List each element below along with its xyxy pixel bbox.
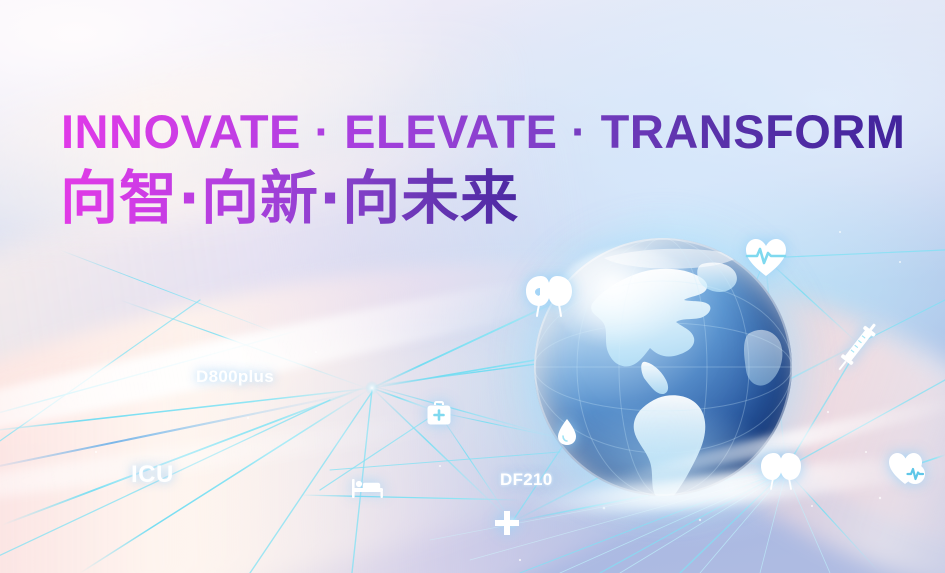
- label-d800plus: D800plus: [196, 367, 274, 387]
- heart-pulse-icon: [744, 238, 788, 278]
- blood-drop-icon: [556, 418, 578, 446]
- page-subtitle: 向智·向新·向未来: [60, 168, 519, 229]
- medical-kit-icon: [426, 401, 452, 427]
- label-icu: ICU: [131, 461, 174, 489]
- kidneys-icon: [521, 272, 577, 318]
- medical-cross-icon: [494, 510, 520, 536]
- hospital-bed-icon: [351, 477, 385, 499]
- page-title: INNOVATE · ELEVATE · TRANSFORM: [61, 108, 905, 155]
- hero-banner: INNOVATE · ELEVATE · TRANSFORM 向智·向新·向未来…: [0, 0, 945, 573]
- heart-monitor-icon: [888, 452, 926, 486]
- kidneys-icon: [757, 450, 805, 490]
- label-df210: DF210: [500, 470, 553, 490]
